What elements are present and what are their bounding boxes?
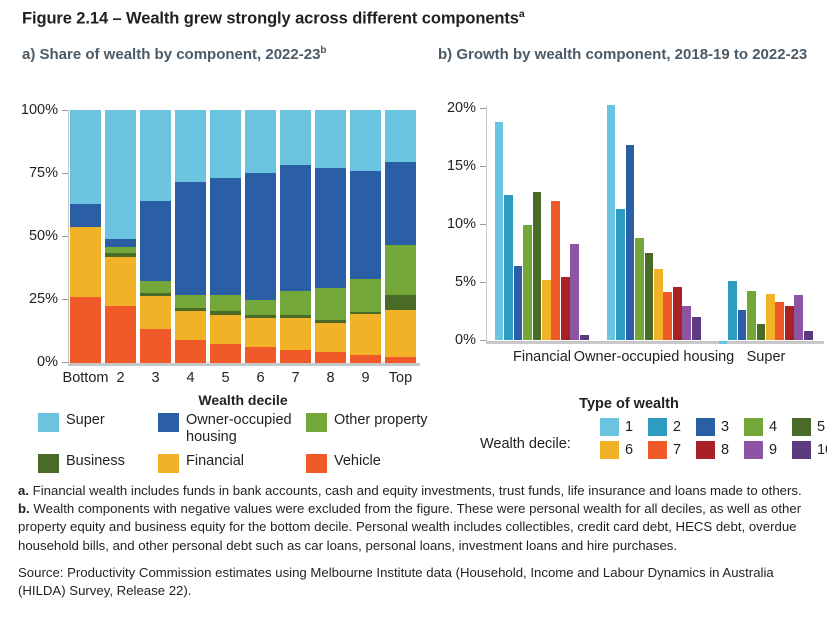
panel-b-legend-item: 3 — [696, 418, 744, 436]
panel-a-segment-financial — [350, 314, 382, 355]
panel-a-legend-label: Other property — [334, 412, 428, 429]
legend-swatch-icon — [696, 418, 715, 436]
panel-b-legend-label: 5 — [817, 419, 825, 435]
panel-a-segment-owner-occupied-housing — [245, 172, 277, 300]
panel-a-segment-vehicle — [105, 305, 137, 362]
panel-a-legend-label: Business — [66, 453, 125, 470]
panel-a-stacked-bar — [245, 110, 277, 363]
panel-a-legend-item: Other property — [306, 412, 436, 432]
panel-a-segment-super — [280, 110, 312, 165]
panel-a-segment-owner-occupied-housing — [70, 203, 102, 226]
panel-a-stacked-bar — [210, 110, 242, 363]
panel-a-y-tickmark — [62, 299, 68, 300]
panel-b-x-tick-label: Super — [671, 349, 827, 366]
panel-a-y-tickmark — [62, 173, 68, 174]
panel-a-stacked-bar — [105, 110, 137, 363]
panel-a-segment-super — [140, 110, 172, 201]
panel-a-x-axis-title: Wealth decile — [123, 392, 363, 408]
panel-b-y-tick-label: 15% — [424, 158, 476, 174]
legend-swatch-icon — [158, 413, 179, 432]
panel-b-y-tickmark — [480, 108, 486, 109]
panel-b-bar-decile-3 — [514, 266, 523, 340]
panel-a-segment-financial — [70, 226, 102, 297]
legend-swatch-icon — [648, 418, 667, 436]
panel-a-y-tick-label: 25% — [6, 291, 58, 307]
panel-a-segment-owner-occupied-housing — [175, 182, 207, 295]
panel-a-segment-owner-occupied-housing — [105, 239, 137, 247]
panel-a-segment-vehicle — [245, 347, 277, 363]
panel-b-grouped-bar-chart: 0%5%10%15%20%FinancialOwner-occupied hou… — [430, 0, 827, 410]
panel-a-stacked-bar — [315, 110, 347, 363]
panel-b-bar-decile-5 — [757, 324, 766, 340]
panel-b-legend-label: 10 — [817, 442, 827, 458]
panel-a-segment-other-property — [280, 290, 312, 315]
panel-b-bar-decile-9 — [682, 306, 691, 340]
panel-a-segment-other-property — [140, 280, 172, 293]
panel-a-segment-super — [315, 110, 347, 168]
panel-a-y-tick-label: 100% — [6, 102, 58, 118]
panel-b-y-tick-label: 5% — [424, 274, 476, 290]
panel-b-bar-decile-8 — [673, 287, 682, 340]
panel-a-stacked-bar — [70, 110, 102, 363]
panel-a-segment-owner-occupied-housing — [350, 170, 382, 279]
panel-b-legend: 12345678910 — [600, 418, 827, 459]
footnote-paragraph: a. Financial wealth includes funds in ba… — [18, 482, 813, 555]
panel-b-legend-item: 5 — [792, 418, 827, 436]
panel-a-segment-other-property — [350, 279, 382, 312]
panel-a-stacked-bar — [280, 110, 312, 363]
footnote-a-label: a. — [18, 483, 29, 498]
panel-a-legend-item: Business — [38, 453, 158, 473]
footnote-b-text: Wealth components with negative values w… — [18, 501, 801, 552]
legend-swatch-icon — [38, 413, 59, 432]
panel-a-segment-vehicle — [70, 296, 102, 362]
panel-a-segment-financial — [315, 322, 347, 352]
panel-b-bar-decile-8 — [561, 277, 570, 340]
panel-b-bar-decile-6 — [654, 269, 663, 340]
panel-b-y-tick-label: 20% — [424, 100, 476, 116]
panel-b-bar-decile-4 — [635, 238, 644, 340]
panel-b-x-axis — [486, 341, 824, 344]
panel-b-bar-decile-10 — [804, 331, 813, 340]
panel-a-segment-owner-occupied-housing — [385, 161, 417, 244]
panel-b-bar-decile-6 — [766, 294, 775, 340]
panel-b-bar-decile-10 — [692, 317, 701, 340]
panel-a-y-tick-label: 50% — [6, 228, 58, 244]
panel-a-legend: SuperOwner-occupied housingOther propert… — [38, 412, 438, 473]
panel-b-legend-item: 4 — [744, 418, 792, 436]
panel-a-segment-other-property — [245, 300, 277, 316]
panel-a-segment-super — [385, 110, 417, 162]
panel-a-stacked-bar — [175, 110, 207, 363]
panel-a-segment-business — [280, 314, 312, 318]
panel-b-y-axis — [486, 106, 487, 342]
panel-b-bar-decile-1 — [719, 341, 728, 344]
panel-b-legend-label: 7 — [673, 442, 681, 458]
panel-a-segment-business — [105, 252, 137, 256]
panel-a-segment-business — [210, 311, 242, 315]
panel-b-bar-decile-5 — [645, 253, 654, 340]
panel-a-y-tickmark — [62, 236, 68, 237]
panel-a-segment-business — [385, 294, 417, 310]
panel-b-bar-decile-9 — [794, 295, 803, 340]
panel-a-y-tickmark — [62, 110, 68, 111]
panel-b-legend-label: 3 — [721, 419, 729, 435]
legend-swatch-icon — [648, 441, 667, 459]
panel-a-x-tick-label: Top — [366, 370, 436, 386]
panel-b-legend-item: 8 — [696, 441, 744, 459]
panel-b-bar-decile-8 — [785, 306, 794, 340]
panel-b-bar-decile-1 — [607, 105, 616, 340]
panel-a-segment-vehicle — [210, 343, 242, 363]
figure-notes: a. Financial wealth includes funds in ba… — [18, 482, 813, 609]
panel-a-segment-vehicle — [315, 351, 347, 362]
panel-b-legend-title: Type of wealth — [438, 396, 820, 412]
panel-a-segment-financial — [210, 314, 242, 344]
panel-a-segment-financial — [175, 310, 207, 340]
panel-b-legend-item: 2 — [648, 418, 696, 436]
panel-b-bar-decile-7 — [775, 302, 784, 340]
panel-b-y-tickmark — [480, 340, 486, 341]
panel-a-stacked-bar — [350, 110, 382, 363]
panel-a-legend-item: Financial — [158, 453, 306, 473]
panel-a-segment-super — [105, 110, 137, 239]
panel-a-segment-owner-occupied-housing — [280, 164, 312, 291]
panel-b-legend-label: 9 — [769, 442, 777, 458]
panel-b-bar-decile-10 — [580, 335, 589, 340]
panel-b-bar-decile-3 — [738, 310, 747, 340]
panel-b-y-tickmark — [480, 166, 486, 167]
panel-a-segment-owner-occupied-housing — [315, 167, 347, 287]
panel-a-segment-super — [350, 110, 382, 171]
panel-a-segment-super — [210, 110, 242, 178]
legend-swatch-icon — [158, 454, 179, 473]
panel-a-legend-label: Owner-occupied housing — [186, 412, 306, 446]
legend-swatch-icon — [792, 418, 811, 436]
legend-swatch-icon — [306, 454, 327, 473]
panel-a-legend-item: Owner-occupied housing — [158, 412, 306, 446]
panel-b-bar-decile-4 — [747, 291, 756, 340]
legend-swatch-icon — [696, 441, 715, 459]
panel-a-segment-financial — [105, 256, 137, 306]
panel-b-bar-decile-6 — [542, 280, 551, 340]
panel-a-segment-owner-occupied-housing — [210, 177, 242, 295]
panel-a-segment-other-property — [315, 287, 347, 320]
panel-b-y-tickmark — [480, 282, 486, 283]
panel-a-legend-label: Vehicle — [334, 453, 381, 470]
panel-a-segment-other-property — [175, 294, 207, 308]
panel-a-segment-financial — [385, 309, 417, 357]
panel-a-segment-financial — [280, 318, 312, 350]
legend-swatch-icon — [792, 441, 811, 459]
panel-b-legend-prefix: Wealth decile: — [480, 436, 571, 452]
panel-b-legend-label: 2 — [673, 419, 681, 435]
panel-a-legend-label: Financial — [186, 453, 244, 470]
panel-b-legend-item: 10 — [792, 441, 827, 459]
legend-swatch-icon — [600, 441, 619, 459]
panel-b-bar-decile-3 — [626, 145, 635, 340]
panel-b-legend-item: 9 — [744, 441, 792, 459]
panel-a-y-tick-label: 75% — [6, 165, 58, 181]
panel-a-segment-other-property — [210, 294, 242, 311]
panel-a-segment-vehicle — [280, 349, 312, 362]
legend-swatch-icon — [744, 418, 763, 436]
panel-a-y-tickmark — [62, 362, 68, 363]
panel-a-segment-super — [70, 110, 102, 204]
panel-b-bar-decile-4 — [523, 225, 532, 340]
panel-b-y-tick-label: 10% — [424, 216, 476, 232]
panel-b-legend-item: 7 — [648, 441, 696, 459]
panel-b-bar-decile-2 — [728, 281, 737, 340]
panel-a-y-tick-label: 0% — [6, 354, 58, 370]
panel-b-bar-decile-7 — [551, 201, 560, 340]
panel-a-segment-vehicle — [175, 339, 207, 362]
panel-a-segment-owner-occupied-housing — [140, 201, 172, 281]
panel-a-segment-other-property — [105, 246, 137, 253]
panel-b-bar-decile-7 — [663, 292, 672, 340]
panel-a-stacked-bar — [385, 110, 417, 363]
panel-b-bar-decile-1 — [495, 122, 504, 340]
panel-a-x-axis — [68, 363, 420, 366]
panel-b-bar-decile-9 — [570, 244, 579, 340]
panel-a-segment-vehicle — [350, 354, 382, 363]
legend-swatch-icon — [600, 418, 619, 436]
panel-b-legend-label: 4 — [769, 419, 777, 435]
panel-a-segment-super — [175, 110, 207, 182]
panel-b-legend-item: 1 — [600, 418, 648, 436]
panel-a-segment-financial — [140, 295, 172, 328]
panel-a-stacked-bar-chart: 0%25%50%75%100%Bottom23456789TopWealth d… — [0, 0, 430, 410]
panel-b-bar-decile-2 — [504, 195, 513, 340]
panel-b-bar-decile-5 — [533, 192, 542, 340]
panel-a-legend-item: Super — [38, 412, 158, 432]
legend-swatch-icon — [38, 454, 59, 473]
legend-swatch-icon — [744, 441, 763, 459]
source-line: Source: Productivity Commission estimate… — [18, 564, 813, 600]
panel-b-bar-decile-2 — [616, 209, 625, 340]
footnote-a-text: Financial wealth includes funds in bank … — [29, 483, 802, 498]
panel-b-legend-label: 8 — [721, 442, 729, 458]
panel-b-legend-item: 6 — [600, 441, 648, 459]
panel-a-segment-vehicle — [140, 328, 172, 363]
footnote-b-label: b. — [18, 501, 30, 516]
panel-a-segment-financial — [245, 318, 277, 348]
panel-a-legend-label: Super — [66, 412, 105, 429]
panel-a-segment-super — [245, 110, 277, 173]
panel-a-legend-item: Vehicle — [306, 453, 436, 473]
panel-b-y-tickmark — [480, 224, 486, 225]
panel-b-legend-label: 6 — [625, 442, 633, 458]
panel-a-segment-other-property — [385, 244, 417, 294]
panel-a-segment-vehicle — [385, 356, 417, 362]
panel-a-stacked-bar — [140, 110, 172, 363]
legend-swatch-icon — [306, 413, 327, 432]
panel-b-y-tick-label: 0% — [424, 332, 476, 348]
panel-b-legend-label: 1 — [625, 419, 633, 435]
